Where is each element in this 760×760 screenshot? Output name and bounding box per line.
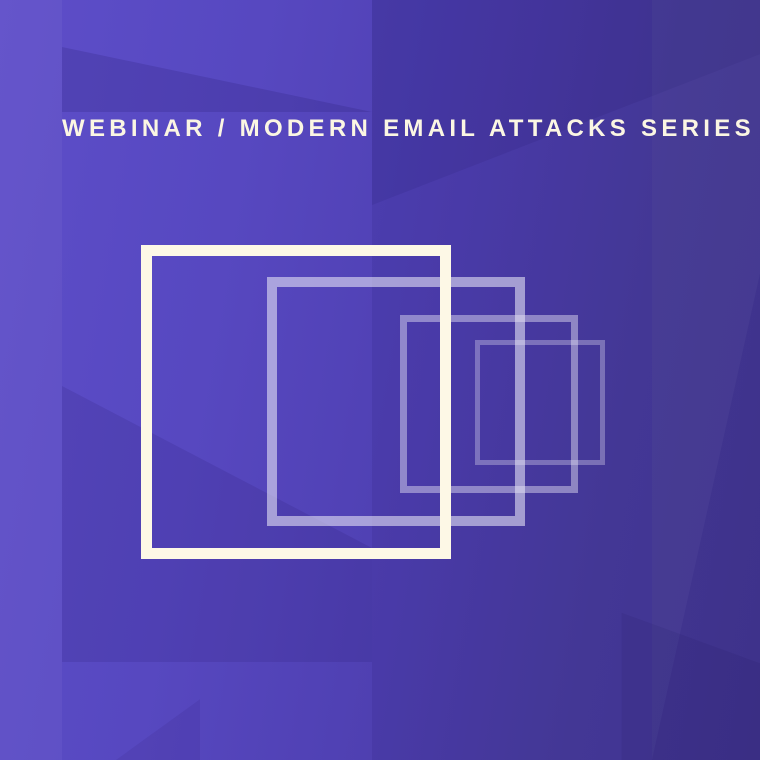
cream-square	[141, 245, 451, 559]
poster-headline: WEBINAR / MODERN EMAIL ATTACKS SERIES	[62, 117, 755, 141]
triangle-top-left	[62, 0, 372, 112]
background-band-left-edge	[0, 0, 62, 760]
webinar-promo-poster: WEBINAR / MODERN EMAIL ATTACKS SERIES	[0, 0, 760, 760]
triangle-bottom-right	[372, 600, 760, 760]
